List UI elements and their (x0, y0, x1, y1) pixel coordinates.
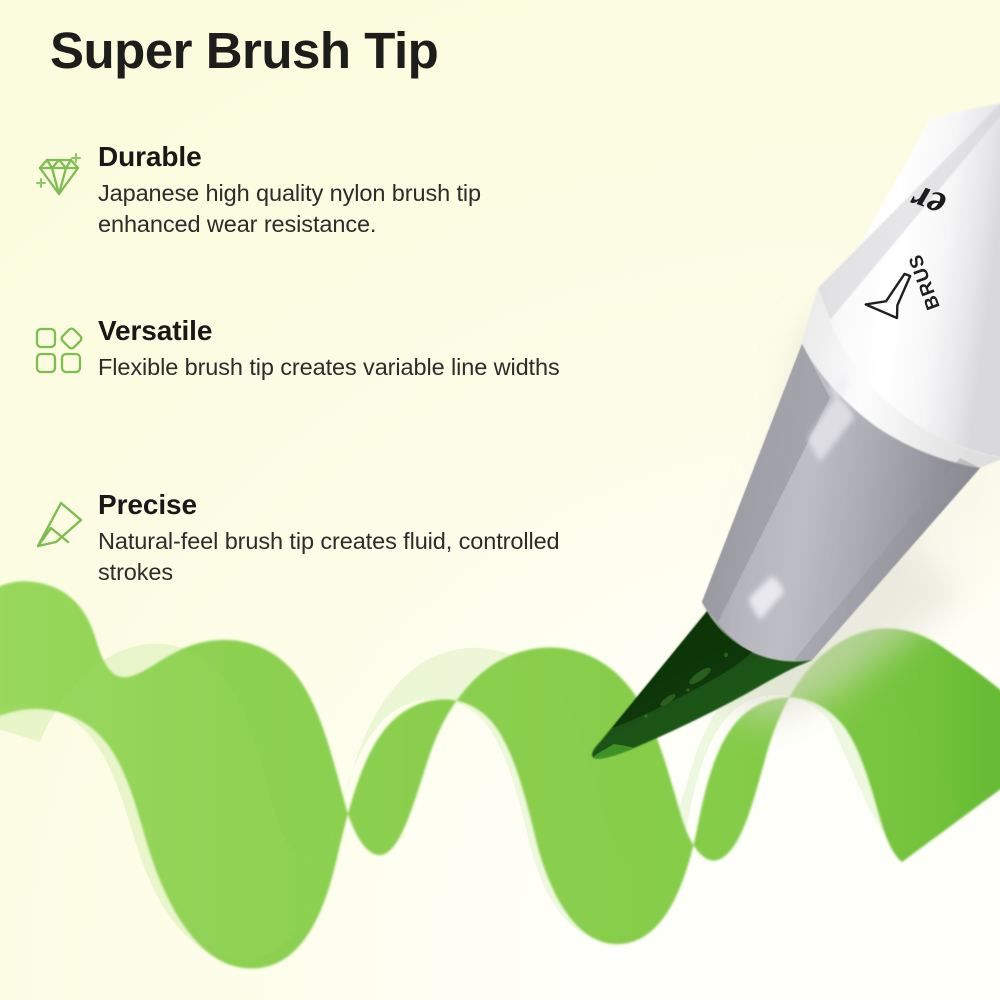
feature-text-durable: Durable Japanese high quality nylon brus… (90, 140, 578, 241)
pen-barrel-body (818, 100, 1000, 458)
barrel-edge-shade (818, 100, 1000, 320)
pen-barrel (806, 104, 1000, 452)
feature-description: Natural-feel brush tip creates fluid, co… (98, 526, 578, 589)
pen-cast-shadow (700, 150, 1000, 724)
stroke-wash (0, 644, 960, 960)
feature-item-precise: Precise Natural-feel brush tip creates f… (28, 488, 648, 608)
feature-list: Durable Japanese high quality nylon brus… (28, 140, 648, 608)
product-infographic: er BRUS Super Brush Tip (0, 0, 1000, 1000)
brush-tip-symbol-icon (865, 265, 912, 318)
page-title: Super Brush Tip (50, 21, 438, 80)
diamond-sparkle-icon (28, 146, 90, 208)
pen-collar (702, 344, 980, 667)
brush-nib-icon (28, 494, 90, 556)
feature-description: Flexible brush tip creates variable line… (98, 352, 560, 383)
feature-title: Precise (98, 488, 578, 521)
pen-shoulder-ring (802, 288, 1000, 468)
feature-description: Japanese high quality nylon brush tip en… (98, 178, 578, 241)
feature-text-precise: Precise Natural-feel brush tip creates f… (90, 488, 578, 589)
feature-text-versatile: Versatile Flexible brush tip creates var… (90, 314, 560, 383)
feature-title: Versatile (98, 314, 560, 347)
barrel-brand-text: er (904, 176, 951, 230)
barrel-brand-label: er (904, 176, 951, 230)
feature-title: Durable (98, 140, 578, 173)
barrel-brush-text: BRUS (905, 251, 945, 313)
feature-item-versatile: Versatile Flexible brush tip creates var… (28, 314, 648, 434)
barrel-brush-label: BRUS (905, 251, 945, 313)
tip-ink-sheen (644, 653, 728, 718)
stroke-ribbon (0, 581, 1000, 968)
grid-diamond-icon (28, 320, 90, 382)
collar-highlights (749, 372, 854, 620)
feature-item-durable: Durable Japanese high quality nylon brus… (28, 140, 648, 260)
brush-tip (592, 611, 812, 759)
